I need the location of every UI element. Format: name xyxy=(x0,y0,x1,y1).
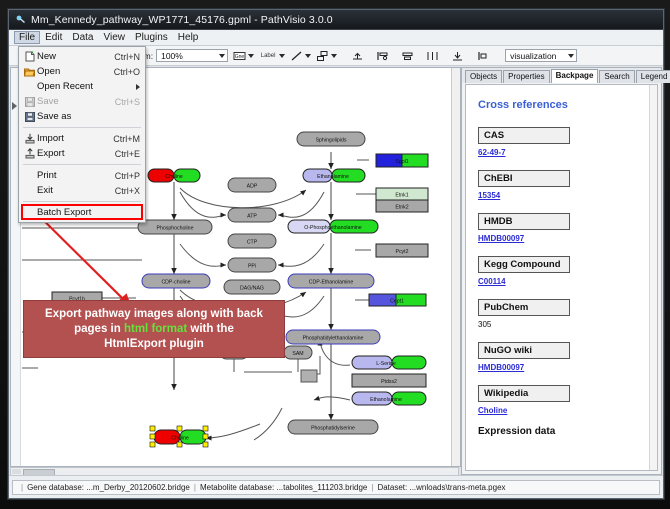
status-text: | Gene database: ...m_Derby_20120602.bri… xyxy=(12,480,660,495)
shape-chevron-down-icon[interactable] xyxy=(331,54,337,58)
annotation-text: Export pathway images along with back pa… xyxy=(45,307,263,352)
expand-arrow-icon[interactable] xyxy=(12,102,17,110)
file-menu-separator-1 xyxy=(23,127,141,128)
scroll-left-button[interactable] xyxy=(12,469,21,474)
xref-title-kegg: Kegg Compound xyxy=(478,256,570,273)
xref-title-cas: CAS xyxy=(478,127,570,144)
file-menu-item-new[interactable]: New Ctrl+N xyxy=(19,49,145,64)
import-icon xyxy=(22,133,37,144)
cross-references-heading: Cross references xyxy=(478,99,647,111)
xref-title-chebi: ChEBI xyxy=(478,170,570,187)
menu-view[interactable]: View xyxy=(98,31,130,44)
window-title: Mm_Kennedy_pathway_WP1771_45176.gpml - P… xyxy=(31,14,333,26)
svg-text:CDP-choline: CDP-choline xyxy=(161,280,190,286)
svg-text:DAG/NAG: DAG/NAG xyxy=(240,286,264,292)
file-menu-label-open: Open xyxy=(37,66,114,77)
tab-properties[interactable]: Properties xyxy=(503,70,549,83)
svg-text:Pcyt2: Pcyt2 xyxy=(396,249,409,255)
menu-bar: File Edit Data View Plugins Help xyxy=(9,30,663,46)
label-tool-text: Label xyxy=(261,53,276,59)
svg-text:Ptdss2: Ptdss2 xyxy=(381,379,397,385)
svg-text:Phosphocholine: Phosphocholine xyxy=(157,226,194,232)
status-sep-2: | xyxy=(371,483,373,492)
submenu-arrow-icon xyxy=(136,84,140,90)
xref-link-wikipedia[interactable]: Choline xyxy=(478,406,647,415)
file-menu-accel-open: Ctrl+O xyxy=(114,67,142,77)
annotation-highlight: html format xyxy=(124,323,187,335)
tab-legend[interactable]: Legend xyxy=(636,70,670,83)
file-menu-item-print[interactable]: Print Ctrl+P xyxy=(19,168,145,183)
file-menu-separator-2 xyxy=(23,164,141,165)
svg-text:L-Serine: L-Serine xyxy=(376,361,396,367)
status-gene-db-value: ...m_Derby_20120602.bridge xyxy=(86,483,190,492)
selected-node: Choline xyxy=(150,426,208,447)
zoom-combo[interactable]: 100% xyxy=(156,49,228,62)
svg-text:Gne: Gne xyxy=(235,54,245,60)
file-menu-accel-save: Ctrl+S xyxy=(115,97,142,107)
file-menu-item-batch-export[interactable]: Batch Export xyxy=(19,205,145,220)
menu-edit[interactable]: Edit xyxy=(40,31,67,44)
xref-hmdb: HMDB HMDB00097 xyxy=(478,211,647,243)
file-menu-item-export[interactable]: Export Ctrl+E xyxy=(19,146,145,161)
xref-nugo: NuGO wiki HMDB00097 xyxy=(478,340,647,372)
svg-text:Choline: Choline xyxy=(171,436,189,442)
xref-link-chebi[interactable]: 15354 xyxy=(478,191,647,200)
pathvisio-icon xyxy=(15,14,26,25)
svg-text:ATP: ATP xyxy=(247,214,257,220)
export-icon xyxy=(22,148,37,159)
new-file-icon xyxy=(22,51,37,62)
xref-title-pubchem: PubChem xyxy=(478,299,570,316)
open-folder-icon xyxy=(22,67,37,77)
file-menu-accel-export: Ctrl+E xyxy=(115,149,142,159)
canvas-vertical-scrollbar[interactable] xyxy=(451,68,460,466)
status-bar: | Gene database: ...m_Derby_20120602.bri… xyxy=(9,475,663,498)
file-menu-label-open-recent: Open Recent xyxy=(37,81,136,92)
menu-data[interactable]: Data xyxy=(67,31,98,44)
xref-title-wikipedia: Wikipedia xyxy=(478,385,570,402)
file-menu-separator-3 xyxy=(23,201,141,202)
xref-link-cas[interactable]: 62-49-7 xyxy=(478,148,647,157)
file-menu-item-open[interactable]: Open Ctrl+O xyxy=(19,64,145,79)
backpage-scrollbar[interactable] xyxy=(649,85,657,470)
line-tool-button[interactable] xyxy=(290,49,303,62)
annotation-line1: Export pathway images along with back xyxy=(45,308,263,320)
title-bar: Mm_Kennedy_pathway_WP1771_45176.gpml - P… xyxy=(9,10,663,30)
annotation-line2-post: with the xyxy=(187,323,234,335)
datanode-tool-button[interactable]: Gne xyxy=(233,49,246,62)
file-menu-label-new: New xyxy=(37,51,114,62)
xref-wikipedia: Wikipedia Choline xyxy=(478,383,647,415)
xref-link-hmdb[interactable]: HMDB00097 xyxy=(478,234,647,243)
tab-backpage[interactable]: Backpage xyxy=(551,69,599,83)
backpage-panel: Cross references CAS 62-49-7 ChEBI 15354… xyxy=(465,84,658,471)
file-menu-label-save-as: Save as xyxy=(37,111,140,122)
xref-value-pubchem: 305 xyxy=(478,320,647,329)
label-chevron-down-icon[interactable] xyxy=(279,54,285,58)
chevron-down-icon xyxy=(219,54,225,58)
shape-tool-button[interactable] xyxy=(316,49,329,62)
stack-tool-button[interactable] xyxy=(476,49,489,62)
file-menu-label-import: Import xyxy=(37,133,113,144)
label-tool-button[interactable]: Label xyxy=(259,49,277,62)
svg-text:ADP: ADP xyxy=(247,184,258,190)
svg-text:PPi: PPi xyxy=(248,264,256,270)
file-menu-accel-import: Ctrl+M xyxy=(113,134,142,144)
xref-link-nugo[interactable]: HMDB00097 xyxy=(478,363,647,372)
side-panel: Objects Properties Backpage Search Legen… xyxy=(461,67,662,475)
screen: Mm_Kennedy_pathway_WP1771_45176.gpml - P… xyxy=(0,0,670,509)
status-sep-0: | xyxy=(21,483,23,492)
status-dataset-label: Dataset: xyxy=(377,483,407,492)
visualization-value: visualization xyxy=(508,51,556,61)
svg-text:Cept1: Cept1 xyxy=(390,299,404,305)
menu-plugins[interactable]: Plugins xyxy=(130,31,173,44)
file-menu-label-export: Export xyxy=(37,148,115,159)
svg-text:Sgpl1: Sgpl1 xyxy=(395,159,408,165)
file-menu-accel-new: Ctrl+N xyxy=(114,52,142,62)
tab-search[interactable]: Search xyxy=(599,70,634,83)
file-menu-accel-print: Ctrl+P xyxy=(115,171,142,181)
align-left-tool-button[interactable] xyxy=(376,49,389,62)
annotation-line2-pre: pages in xyxy=(74,323,124,335)
distribute-tool-button[interactable] xyxy=(426,49,439,62)
status-sep-1: | xyxy=(194,483,196,492)
xref-title-hmdb: HMDB xyxy=(478,213,570,230)
status-gene-db-label: Gene database: xyxy=(27,483,84,492)
xref-pubchem: PubChem 305 xyxy=(478,297,647,329)
svg-text:Phosphatidylserine: Phosphatidylserine xyxy=(311,426,355,432)
visualization-combo[interactable]: visualization xyxy=(505,49,577,62)
file-menu-item-exit[interactable]: Exit Ctrl+X xyxy=(19,183,145,198)
annotation-line3: HtmlExport plugin xyxy=(104,338,204,350)
file-menu-dropdown[interactable]: New Ctrl+N Open Ctrl+O Open Recent Save xyxy=(18,46,146,223)
menu-help[interactable]: Help xyxy=(173,31,204,44)
status-metabolite-db-value: ...tabolites_111203.bridge xyxy=(276,483,367,492)
tab-objects[interactable]: Objects xyxy=(465,70,502,83)
side-panel-tabs: Objects Properties Backpage Search Legen… xyxy=(462,68,661,83)
backpage-content: Cross references CAS 62-49-7 ChEBI 15354… xyxy=(466,85,657,437)
xref-chebi: ChEBI 15354 xyxy=(478,168,647,200)
align-top-tool-button[interactable] xyxy=(351,49,364,62)
status-metabolite-db-label: Metabolite database: xyxy=(200,483,274,492)
datanode-chevron-down-icon[interactable] xyxy=(248,54,254,58)
file-menu-label-exit: Exit xyxy=(37,185,115,196)
svg-text:O-Phosphoethanolamine: O-Phosphoethanolamine xyxy=(304,225,362,231)
svg-text:Etnk1: Etnk1 xyxy=(395,193,408,199)
svg-text:Etnk2: Etnk2 xyxy=(395,205,408,211)
visualization-chevron-down-icon xyxy=(568,54,574,58)
svg-text:CDP-Ethanolamine: CDP-Ethanolamine xyxy=(309,280,354,286)
annotation-callout: Export pathway images along with back pa… xyxy=(23,300,285,358)
menu-file[interactable]: File xyxy=(14,31,40,44)
file-menu-label-save: Save xyxy=(37,96,115,107)
xref-kegg: Kegg Compound C00114 xyxy=(478,254,647,286)
xref-title-nugo: NuGO wiki xyxy=(478,342,570,359)
xref-link-kegg[interactable]: C00114 xyxy=(478,277,647,286)
svg-text:CTP: CTP xyxy=(247,240,258,246)
zoom-value: 100% xyxy=(159,51,183,61)
pathvisio-window: Mm_Kennedy_pathway_WP1771_45176.gpml - P… xyxy=(8,9,664,499)
svg-text:Choline: Choline xyxy=(165,174,183,180)
file-menu-accel-exit: Ctrl+X xyxy=(115,186,142,196)
save-disk-icon xyxy=(22,97,37,107)
status-dataset-value: ...wnloads\trans-meta.pgex xyxy=(409,483,505,492)
svg-text:Sphingolipids: Sphingolipids xyxy=(316,138,347,144)
svg-text:SAM: SAM xyxy=(292,351,303,357)
file-menu-item-save-as[interactable]: Save as xyxy=(19,109,145,124)
svg-text:Ethanolamine: Ethanolamine xyxy=(370,397,402,403)
file-menu-item-open-recent[interactable]: Open Recent xyxy=(19,79,145,94)
line-chevron-down-icon[interactable] xyxy=(305,54,311,58)
file-menu-item-import[interactable]: Import Ctrl+M xyxy=(19,131,145,146)
svg-text:Phosphatidylethanolamine: Phosphatidylethanolamine xyxy=(303,336,364,342)
expression-data-heading: Expression data xyxy=(478,426,647,437)
batch-export-highlight-box xyxy=(21,204,143,220)
xref-cas: CAS 62-49-7 xyxy=(478,125,647,157)
save-as-icon xyxy=(22,112,37,122)
file-menu-item-save: Save Ctrl+S xyxy=(19,94,145,109)
svg-text:Ethanolamine: Ethanolamine xyxy=(317,174,349,180)
size-common-tool-button[interactable] xyxy=(451,49,464,62)
align-center-tool-button[interactable] xyxy=(401,49,414,62)
file-menu-label-print: Print xyxy=(37,170,115,181)
